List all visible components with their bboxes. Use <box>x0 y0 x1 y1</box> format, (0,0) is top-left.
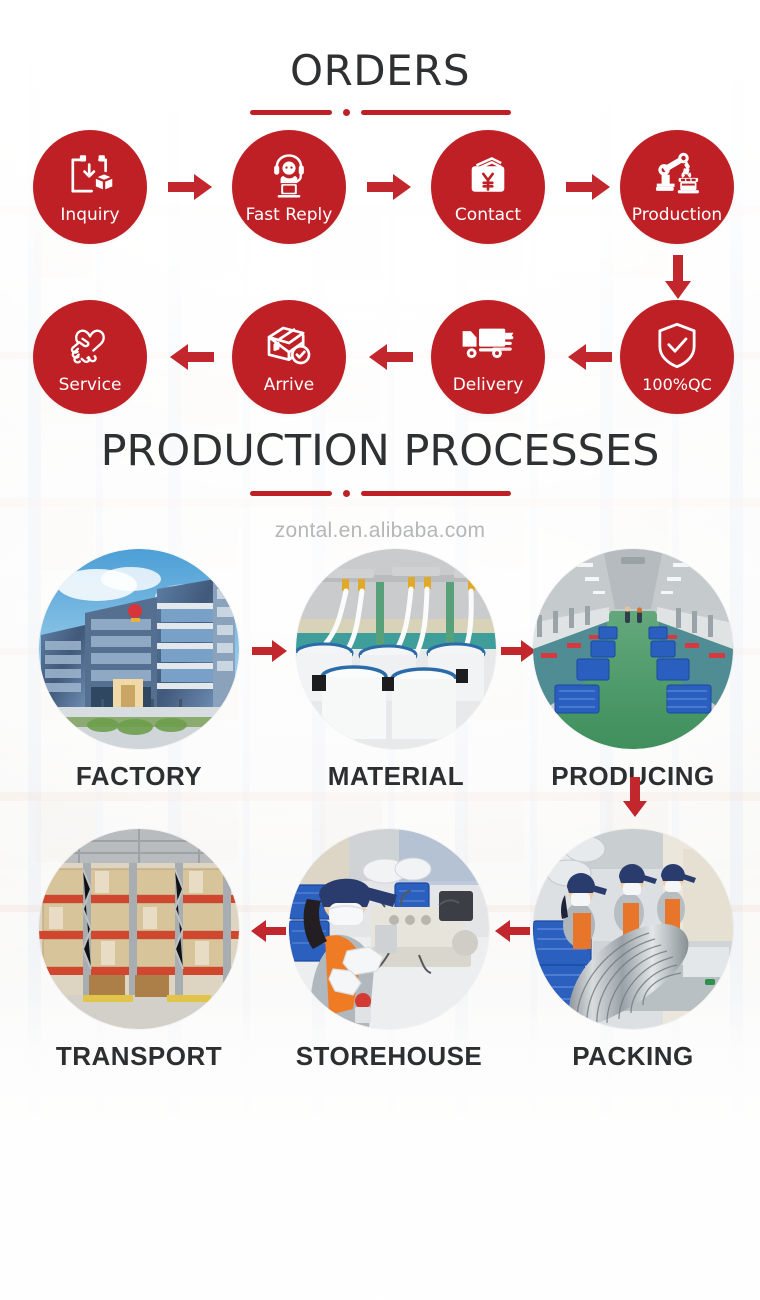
process-step-producing[interactable]: PRODUCING <box>530 549 736 792</box>
order-step-delivery[interactable]: Delivery <box>431 300 545 414</box>
underline-dot <box>343 490 350 497</box>
order-step-label: Inquiry <box>60 207 119 224</box>
flow-arrow-right <box>168 172 214 202</box>
site-watermark: zontal.en.alibaba.com <box>0 519 760 543</box>
production-section-title: PRODUCTION PROCESSES zontal.en.alibaba.c… <box>0 430 760 543</box>
warehouse-racking-photo <box>39 829 239 1029</box>
clipboard-box-icon <box>60 147 120 203</box>
production-process-grid: FACTORY <box>0 549 760 1109</box>
production-title-underline <box>0 490 760 497</box>
process-step-label: TRANSPORT <box>36 1041 242 1072</box>
orders-title-text: ORDERS <box>0 50 760 92</box>
knitting-machine-line-photo <box>533 549 733 749</box>
production-title-text: PRODUCTION PROCESSES <box>0 430 760 473</box>
order-step-label: Service <box>59 377 122 394</box>
underline-bar-left <box>250 110 332 115</box>
packing-workers-photo <box>533 829 733 1029</box>
order-step-label: Production <box>632 207 722 224</box>
headset-agent-icon <box>259 147 319 203</box>
order-step-label: Fast Reply <box>246 207 333 224</box>
process-step-label: PACKING <box>530 1041 736 1072</box>
underline-dot <box>343 109 350 116</box>
orders-section-title: ORDERS <box>0 0 760 116</box>
wallet-yen-icon <box>458 147 518 203</box>
order-step-label: Arrive <box>264 377 315 394</box>
material-drums-photo <box>296 549 496 749</box>
process-step-label: MATERIAL <box>293 761 499 792</box>
order-step-contact[interactable]: Contact <box>431 130 545 244</box>
order-step-label: Contact <box>455 207 521 224</box>
promo-banner-page: ORDERS <box>0 0 760 1300</box>
flow-arrow-left <box>168 342 214 372</box>
orders-title-underline <box>0 109 760 116</box>
order-step-production[interactable]: Production <box>620 130 734 244</box>
process-step-packing[interactable]: PACKING <box>530 829 736 1072</box>
process-arrow-right <box>252 639 288 663</box>
process-step-transport[interactable]: TRANSPORT <box>36 829 242 1072</box>
shield-check-icon <box>647 317 707 373</box>
modern-office-building-photo <box>39 549 239 749</box>
order-step-fast-reply[interactable]: Fast Reply <box>232 130 346 244</box>
process-step-material[interactable]: MATERIAL <box>293 549 499 792</box>
order-step-label: Delivery <box>453 377 524 394</box>
underline-bar-right <box>361 110 511 115</box>
handshake-heart-icon <box>60 317 120 373</box>
process-arrow-left <box>250 919 286 943</box>
process-step-factory[interactable]: FACTORY <box>36 549 242 792</box>
order-step-inquiry[interactable]: Inquiry <box>33 130 147 244</box>
flow-arrow-left <box>367 342 413 372</box>
order-step-arrive[interactable]: Arrive <box>232 300 346 414</box>
process-step-label: STOREHOUSE <box>286 1041 492 1072</box>
flow-arrow-left <box>566 342 612 372</box>
sewing-worker-photo <box>289 829 489 1029</box>
flow-arrow-right <box>566 172 612 202</box>
process-step-storehouse[interactable]: STOREHOUSE <box>286 829 492 1072</box>
process-step-label: FACTORY <box>36 761 242 792</box>
process-arrow-left <box>494 919 530 943</box>
underline-bar-right <box>361 491 511 496</box>
fast-truck-icon <box>458 317 518 373</box>
orders-flow-diagram: Inquiry <box>0 130 760 430</box>
underline-bar-left <box>250 491 332 496</box>
order-step-label: 100%QC <box>642 377 712 393</box>
box-check-icon <box>259 317 319 373</box>
process-arrow-down <box>621 777 649 819</box>
flow-arrow-right <box>367 172 413 202</box>
order-step-qc[interactable]: 100%QC <box>620 300 734 414</box>
order-step-service[interactable]: Service <box>33 300 147 414</box>
robot-arm-icon <box>647 147 707 203</box>
flow-arrow-down <box>663 255 693 301</box>
